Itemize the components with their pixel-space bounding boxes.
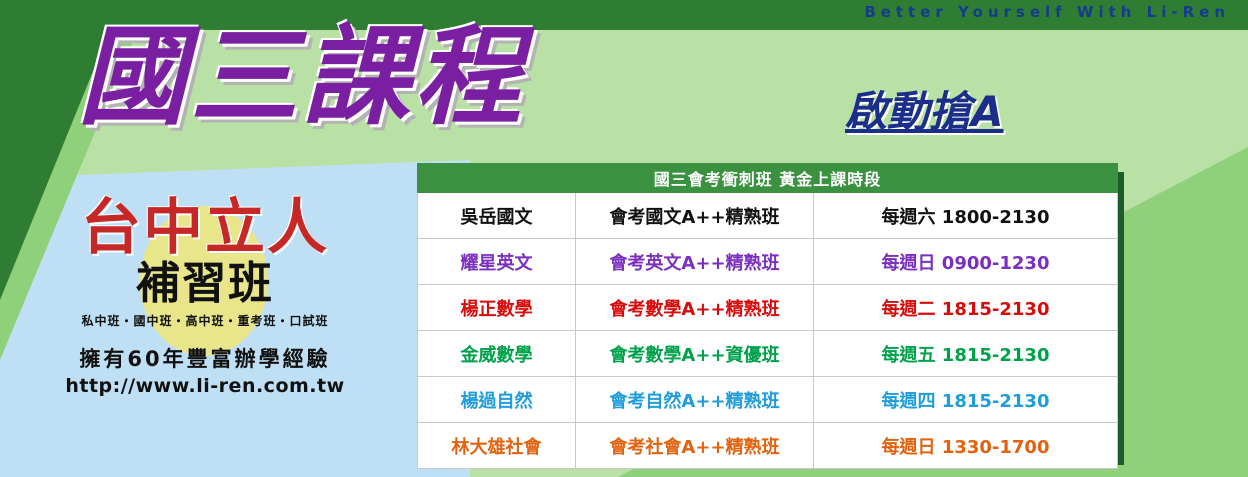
logo-class-list: 私中班・國中班・高中班・重考班・口試班 xyxy=(20,312,390,329)
table-row: 林大雄社會會考社會A++精熟班每週日 1330-1700 xyxy=(418,423,1118,469)
logo-block: 台中立人 補習班 私中班・國中班・高中班・重考班・口試班 擁有60年豐富辦學經驗… xyxy=(20,196,390,426)
title-block: 國三課程 xyxy=(78,18,838,148)
table-row: 楊過自然會考自然A++精熟班每週四 1815-2130 xyxy=(418,377,1118,423)
cell-teacher: 吳岳國文 xyxy=(418,193,576,239)
cell-teacher: 林大雄社會 xyxy=(418,423,576,469)
table-row: 金威數學會考數學A++資優班每週五 1815-2130 xyxy=(418,331,1118,377)
cell-course: 會考國文A++精熟班 xyxy=(576,193,814,239)
cell-time: 每週六 1800-2130 xyxy=(814,193,1118,239)
cell-time: 每週日 1330-1700 xyxy=(814,423,1118,469)
cell-time: 每週四 1815-2130 xyxy=(814,377,1118,423)
schedule-table-header: 國三會考衝刺班 黃金上課時段 xyxy=(418,164,1118,193)
table-row: 楊正數學會考數學A++精熟班每週二 1815-2130 xyxy=(418,285,1118,331)
cell-teacher: 楊正數學 xyxy=(418,285,576,331)
logo-name-secondary: 補習班 xyxy=(20,260,390,308)
logo-experience: 擁有60年豐富辦學經驗 xyxy=(20,343,390,373)
page-subtitle: 啟動搶A xyxy=(845,78,1004,139)
cell-teacher: 楊過自然 xyxy=(418,377,576,423)
tagline-text: Better Yourself With Li-Ren xyxy=(864,3,1230,21)
logo-name: 台中立人 xyxy=(20,196,390,260)
cell-course: 會考社會A++精熟班 xyxy=(576,423,814,469)
cell-time: 每週二 1815-2130 xyxy=(814,285,1118,331)
schedule-table: 國三會考衝刺班 黃金上課時段 吳岳國文會考國文A++精熟班每週六 1800-21… xyxy=(417,163,1118,469)
schedule-table-header-row: 國三會考衝刺班 黃金上課時段 xyxy=(418,164,1118,193)
cell-course: 會考英文A++精熟班 xyxy=(576,239,814,285)
poster-root: Better Yourself With Li-Ren 國三課程 啟動搶A 台中… xyxy=(0,0,1248,477)
cell-course: 會考自然A++精熟班 xyxy=(576,377,814,423)
cell-course: 會考數學A++精熟班 xyxy=(576,285,814,331)
logo-website-url[interactable]: http://www.li-ren.com.tw xyxy=(20,375,390,397)
cell-course: 會考數學A++資優班 xyxy=(576,331,814,377)
schedule-table-body: 吳岳國文會考國文A++精熟班每週六 1800-2130耀星英文會考英文A++精熟… xyxy=(418,193,1118,469)
cell-teacher: 金威數學 xyxy=(418,331,576,377)
cell-time: 每週日 0900-1230 xyxy=(814,239,1118,285)
page-title: 國三課程 xyxy=(78,18,838,138)
table-row: 耀星英文會考英文A++精熟班每週日 0900-1230 xyxy=(418,239,1118,285)
cell-teacher: 耀星英文 xyxy=(418,239,576,285)
cell-time: 每週五 1815-2130 xyxy=(814,331,1118,377)
table-row: 吳岳國文會考國文A++精熟班每週六 1800-2130 xyxy=(418,193,1118,239)
